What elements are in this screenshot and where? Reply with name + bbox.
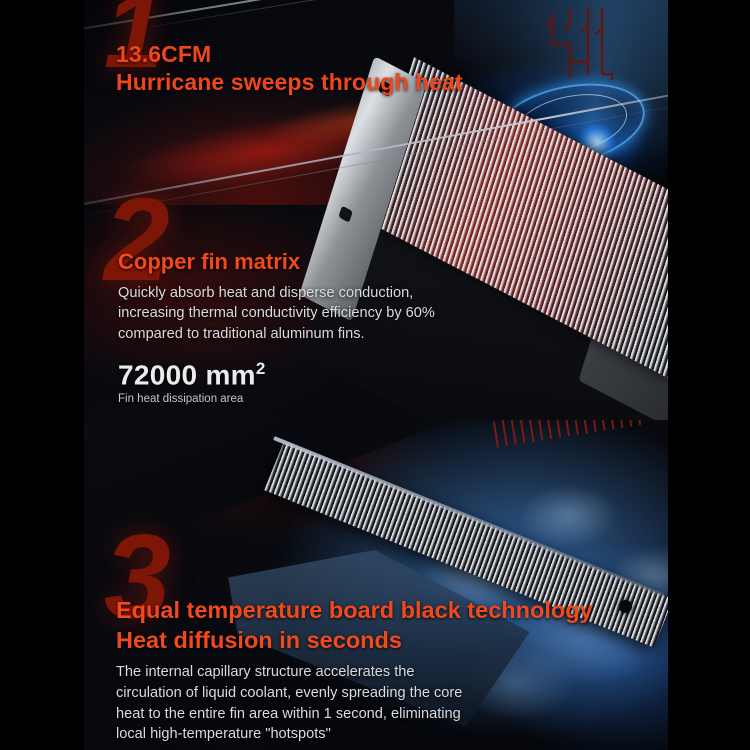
section-1-panel bbox=[84, 0, 668, 205]
section-3-body: The internal capillary structure acceler… bbox=[116, 662, 476, 745]
section-2-stat-caption: Fin heat dissipation area bbox=[118, 393, 478, 405]
section-1-text: 13.6CFM Hurricane sweeps through heat bbox=[116, 40, 463, 96]
port-dot bbox=[619, 600, 632, 613]
section-2-headline: Copper fin matrix bbox=[118, 248, 478, 276]
section-1-headline: Hurricane sweeps through heat bbox=[116, 68, 463, 96]
section-2-stat-value: 72000 mm bbox=[118, 359, 256, 390]
section-2-text: Copper fin matrix Quickly absorb heat an… bbox=[118, 248, 478, 405]
section-2-stat-exponent: 2 bbox=[256, 359, 266, 378]
circuit-trace-glyph-icon bbox=[544, 4, 636, 90]
product-infographic-page: 1 2 3 13.6CFM Hurricane sweeps through h… bbox=[0, 0, 750, 750]
section-2-stat: 72000 mm2 bbox=[118, 359, 478, 391]
section-2-body: Quickly absorb heat and disperse conduct… bbox=[118, 283, 478, 345]
section-3-text: Equal temperature board black technology… bbox=[116, 596, 593, 745]
section-3-headline-line2: Heat diffusion in seconds bbox=[116, 626, 593, 656]
section-3-headline-line1: Equal temperature board black technology bbox=[116, 596, 593, 626]
section-1-kicker: 13.6CFM bbox=[116, 40, 463, 68]
